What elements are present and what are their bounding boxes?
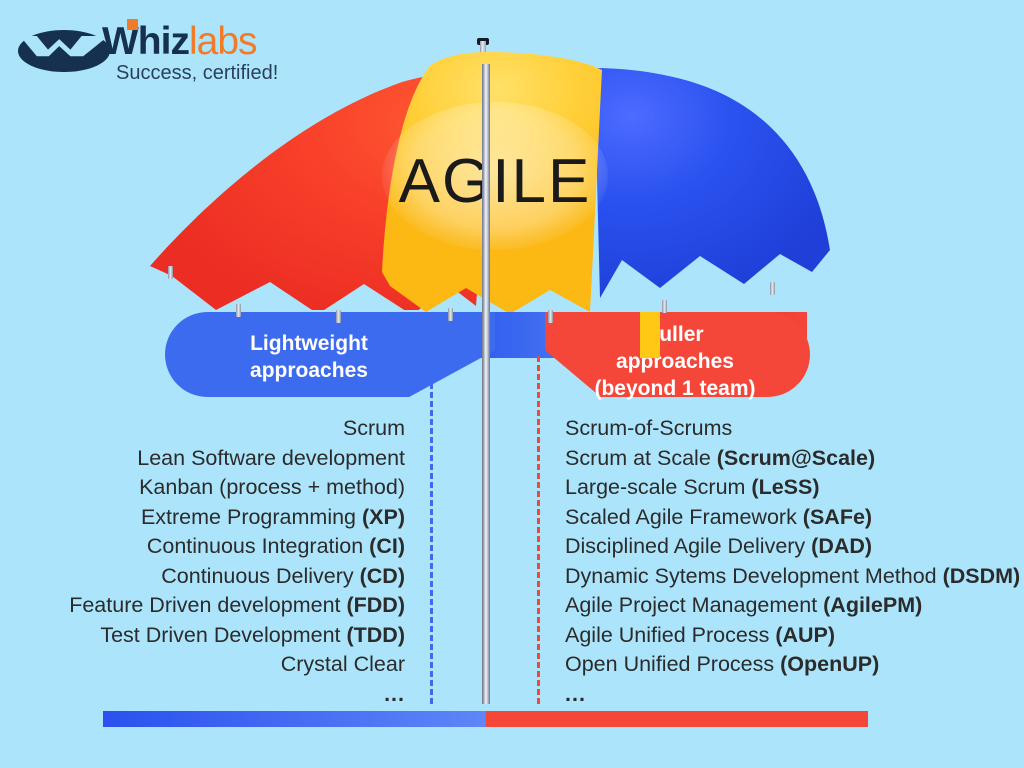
whizlabs-mark-icon	[18, 30, 110, 72]
lightweight-line-2: approaches	[179, 357, 439, 384]
list-item-text: Agile Unified Process	[565, 623, 775, 647]
list-item: Open Unified Process (OpenUP)	[565, 650, 995, 680]
list-item-abbr: (Scrum@Scale)	[717, 446, 875, 470]
list-item-abbr: (AgilePM)	[823, 593, 922, 617]
spectrum-center-marker	[640, 312, 660, 358]
list-more-indicator: ...	[565, 680, 995, 710]
list-item-abbr: (CD)	[360, 564, 405, 588]
list-item-text: Scaled Agile Framework	[565, 505, 803, 529]
bottom-bar-right	[486, 711, 868, 727]
bottom-bar-left	[103, 711, 486, 727]
list-item-text: Scrum at Scale	[565, 446, 717, 470]
fuller-approaches-label: Fuller approaches (beyond 1 team)	[545, 321, 805, 402]
list-item: Disciplined Agile Delivery (DAD)	[565, 532, 995, 562]
list-item: Crystal Clear	[40, 650, 405, 680]
list-item: Continuous Delivery (CD)	[40, 562, 405, 592]
list-item: Agile Unified Process (AUP)	[565, 621, 995, 651]
list-item: Dynamic Sytems Development Method (DSDM)	[565, 562, 995, 592]
list-item-abbr: (OpenUP)	[780, 652, 879, 676]
list-item-text: Test Driven Development	[100, 623, 346, 647]
umbrella-panel-blue	[594, 68, 830, 312]
agile-umbrella-graphic: AGILE	[150, 38, 830, 318]
list-item: Agile Project Management (AgilePM)	[565, 591, 995, 621]
list-item-text: Kanban (process + method)	[139, 475, 405, 499]
agile-label: AGILE	[382, 146, 608, 217]
rib-tip-icon	[168, 266, 173, 279]
list-item-text: Scrum	[343, 416, 405, 440]
list-item-abbr: (DSDM)	[943, 564, 1021, 588]
list-item-abbr: (SAFe)	[803, 505, 872, 529]
list-item: Lean Software development	[40, 444, 405, 474]
guide-line-left	[430, 356, 433, 704]
fuller-methods-list: Scrum-of-ScrumsScrum at Scale (Scrum@Sca…	[565, 414, 995, 709]
list-item: Scrum-of-Scrums	[565, 414, 995, 444]
list-item: Scaled Agile Framework (SAFe)	[565, 503, 995, 533]
list-item: Large-scale Scrum (LeSS)	[565, 473, 995, 503]
list-item-text: Crystal Clear	[281, 652, 405, 676]
list-item-text: Open Unified Process	[565, 652, 780, 676]
lightweight-methods-list: ScrumLean Software developmentKanban (pr…	[40, 414, 405, 709]
rib-tip-icon	[336, 310, 341, 323]
list-item-abbr: (LeSS)	[751, 475, 819, 499]
fuller-line-1: Fuller	[545, 321, 805, 348]
list-item-text: Lean Software development	[137, 446, 405, 470]
umbrella-pole	[482, 64, 490, 704]
rib-tip-icon	[770, 282, 775, 295]
list-item-abbr: (CI)	[369, 534, 405, 558]
fuller-line-2: approaches	[545, 348, 805, 375]
list-item: Extreme Programming (XP)	[40, 503, 405, 533]
list-more-indicator: ...	[40, 680, 405, 710]
list-item-text: Continuous Delivery	[161, 564, 359, 588]
list-item: Feature Driven development (FDD)	[40, 591, 405, 621]
list-item-abbr: (AUP)	[775, 623, 835, 647]
fuller-line-3: (beyond 1 team)	[545, 375, 805, 402]
list-item-abbr: (FDD)	[346, 593, 405, 617]
list-item: Test Driven Development (TDD)	[40, 621, 405, 651]
guide-line-right	[537, 356, 540, 704]
list-item-text: Continuous Integration	[147, 534, 369, 558]
list-item-text: Scrum-of-Scrums	[565, 416, 732, 440]
list-item: Scrum at Scale (Scrum@Scale)	[565, 444, 995, 474]
list-item-abbr: (TDD)	[346, 623, 405, 647]
list-item-text: Agile Project Management	[565, 593, 823, 617]
list-item-text: Disciplined Agile Delivery	[565, 534, 811, 558]
list-item-abbr: (XP)	[362, 505, 405, 529]
list-item: Scrum	[40, 414, 405, 444]
list-item-abbr: (DAD)	[811, 534, 872, 558]
rib-tip-icon	[448, 308, 453, 321]
lightweight-approaches-label: Lightweight approaches	[179, 330, 439, 384]
list-item-text: Feature Driven development	[69, 593, 346, 617]
rib-tip-icon	[548, 310, 553, 323]
list-item-text: Extreme Programming	[141, 505, 362, 529]
list-item-text: Large-scale Scrum	[565, 475, 751, 499]
lightweight-line-1: Lightweight	[179, 330, 439, 357]
logo-square-icon	[127, 19, 138, 30]
list-item-text: Dynamic Sytems Development Method	[565, 564, 943, 588]
rib-tip-icon	[662, 300, 667, 313]
list-item: Kanban (process + method)	[40, 473, 405, 503]
rib-tip-icon	[236, 304, 241, 317]
list-item: Continuous Integration (CI)	[40, 532, 405, 562]
